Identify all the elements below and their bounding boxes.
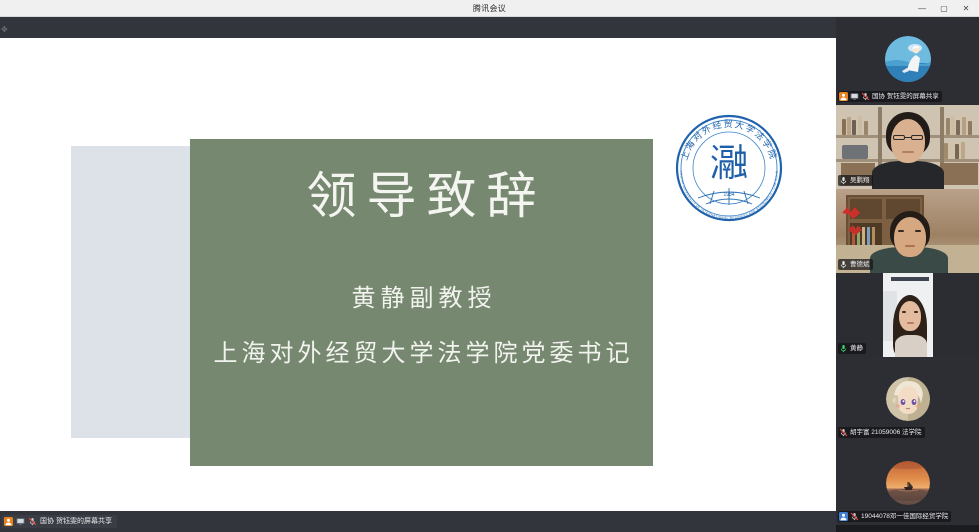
- shared-screen-top-bar: ✥: [0, 17, 836, 38]
- participant-badge: 19044078邓一佳国际经贸学院: [838, 511, 951, 522]
- slide-presenter-affiliation: 上海对外经贸大学法学院党委书记: [210, 333, 634, 368]
- slide-presenter-name: 黄静副教授: [347, 278, 497, 313]
- participant-name: 19044078邓一佳国际经贸学院: [861, 511, 948, 522]
- mic-muted-icon: [28, 517, 37, 526]
- participant-badge: 黄静: [838, 343, 866, 354]
- host-icon: [4, 517, 13, 526]
- mic-icon: [839, 176, 848, 185]
- close-button[interactable]: ✕: [955, 0, 977, 17]
- participant-name: 曹德斌: [850, 259, 870, 270]
- avatar: [886, 377, 930, 421]
- host-icon: [839, 92, 848, 101]
- maximize-button[interactable]: ▢: [933, 0, 955, 17]
- screen-share-icon: [850, 92, 859, 101]
- drag-handle-icon[interactable]: ✥: [1, 26, 8, 33]
- shared-document-canvas[interactable]: 领导致辞 黄静副教授 上海对外经贸大学法学院党委书记 上海对外经贸大学法学院: [0, 38, 836, 511]
- person-face: [899, 301, 921, 331]
- participant-tile[interactable]: 国协 贺钰雯的屏幕共享: [836, 17, 979, 105]
- screen-share-icon: [16, 517, 25, 526]
- participant-icon: [839, 512, 848, 521]
- mic-muted-icon: [850, 512, 859, 521]
- participant-name: 胡宇富 21059006 法学院: [850, 427, 922, 438]
- participant-tile[interactable]: 胡宇富 21059006 法学院: [836, 357, 979, 441]
- participant-tile[interactable]: 曹德斌: [836, 189, 979, 273]
- participant-badge: 吴鹏翔: [838, 175, 873, 186]
- person-face: [891, 119, 925, 163]
- avatar: [886, 461, 930, 505]
- participant-name: 吴鹏翔: [850, 175, 870, 186]
- svg-text:瀜: 瀜: [710, 141, 748, 185]
- mic-icon: [839, 260, 848, 269]
- window-title-bar: 腾讯会议 — ▢ ✕: [0, 0, 979, 17]
- participant-name: 国协 贺钰雯的屏幕共享: [872, 91, 939, 102]
- mic-muted-icon: [839, 428, 848, 437]
- shared-screen-bottom-bar: 国协 贺钰雯的屏幕共享: [0, 511, 836, 532]
- participant-tile[interactable]: 吴鹏翔: [836, 105, 979, 189]
- glasses-icon: [911, 135, 923, 140]
- glasses-icon: [893, 135, 905, 140]
- svg-text:1984: 1984: [723, 192, 734, 198]
- screen-share-status-badge: 国协 贺钰雯的屏幕共享: [2, 515, 117, 528]
- participant-badge: 胡宇富 21059006 法学院: [838, 427, 925, 438]
- participant-badge: 曹德斌: [838, 259, 873, 270]
- avatar: [885, 36, 931, 82]
- university-seal-icon: 上海对外经贸大学法学院 SHANGHAI UNIVERSITY OF INTER…: [668, 108, 790, 228]
- participant-name: 黄静: [850, 343, 863, 354]
- participant-badge: 国协 贺钰雯的屏幕共享: [838, 91, 942, 102]
- person-body: [872, 161, 944, 189]
- mic-icon: [839, 344, 848, 353]
- presentation-slide: 领导致辞 黄静副教授 上海对外经贸大学法学院党委书记: [190, 139, 653, 466]
- participant-rail[interactable]: 国协 贺钰雯的屏幕共享: [836, 17, 979, 532]
- shared-screen-area: ✥ 领导致辞 黄静副教授 上海对外经贸大学法学院党委书记: [0, 17, 836, 532]
- screen-share-status-text: 国协 贺钰雯的屏幕共享: [40, 515, 112, 528]
- tencent-meeting-window: 腾讯会议 — ▢ ✕ ✥ 领导致辞 黄静副教授 上海对外经贸大学法学院党委书记: [0, 0, 979, 532]
- participant-tile[interactable]: 19044078邓一佳国际经贸学院: [836, 441, 979, 525]
- window-title: 腾讯会议: [473, 3, 506, 14]
- person-face: [894, 217, 926, 257]
- participant-tile[interactable]: 黄静: [836, 273, 979, 357]
- slide-title: 领导致辞: [297, 166, 547, 226]
- mic-muted-icon: [861, 92, 870, 101]
- window-controls: — ▢ ✕: [911, 0, 977, 17]
- minimize-button[interactable]: —: [911, 0, 933, 17]
